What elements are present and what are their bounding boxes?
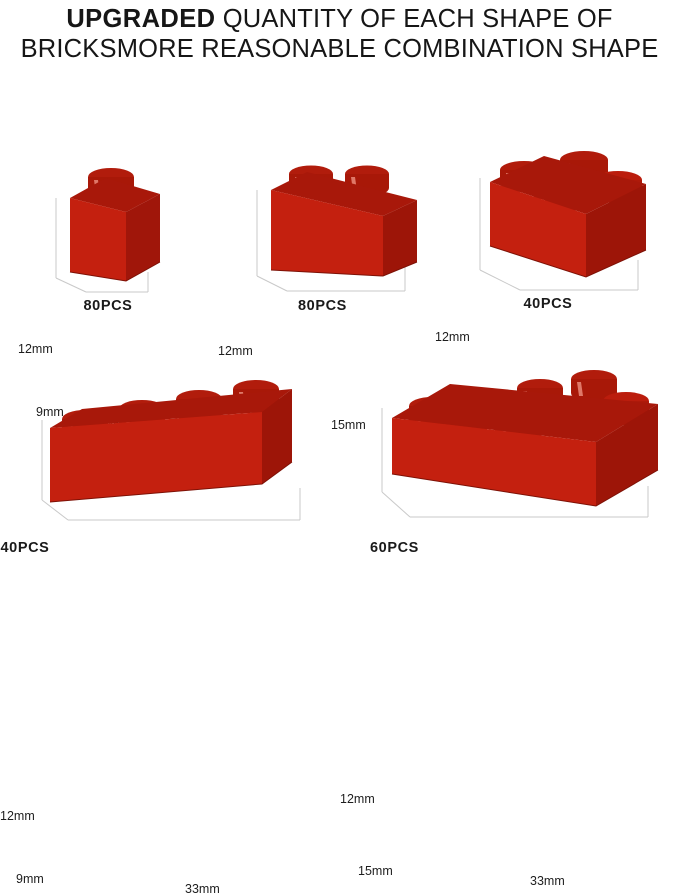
brick-2x4-body [392, 370, 658, 506]
title-line-2: BRICKSMORE REASONABLE COMBINATION SHAPE [21, 35, 659, 63]
depth-dimension-line [382, 492, 410, 517]
quantity-label-1x4: 40PCS [0, 540, 190, 556]
brick-item-2x2: 12mm 15mm 15mm 40PCS [428, 142, 668, 322]
height-dimension-label: 12mm [435, 330, 470, 344]
brick-2x2-illustration [428, 142, 668, 302]
depth-dimension-label: 9mm [16, 872, 44, 886]
depth-dimension-line [480, 270, 520, 290]
brick-item-1x4: 12mm 9mm 33mm 40PCS [0, 372, 330, 560]
height-dimension-label: 12mm [218, 344, 253, 358]
depth-dimension-line [257, 276, 287, 291]
page-title: UPGRADED QUANTITY OF EACH SHAPE OF BRICK… [0, 4, 679, 64]
brick-item-1x2: 12mm 9mm 15mm 80PCS [215, 150, 430, 322]
title-rest: QUANTITY OF EACH SHAPE OF [215, 5, 612, 33]
quantity-label-1x1: 80PCS [8, 298, 208, 314]
quantity-label-2x4: 60PCS [220, 540, 569, 556]
quantity-label-2x2: 40PCS [428, 296, 668, 312]
height-dimension-label: 12mm [0, 809, 35, 823]
brick-1x1-body [70, 168, 160, 281]
brick-1x4-illustration [0, 372, 330, 532]
depth-dimension-line [56, 278, 86, 292]
height-dimension-label: 12mm [18, 342, 53, 356]
brick-1x2-body [271, 166, 417, 277]
brick-2x2-body [490, 151, 646, 277]
width-dimension-label: 33mm [185, 882, 220, 896]
title-emphasis: UPGRADED [66, 5, 215, 33]
depth-dimension-label: 15mm [358, 864, 393, 878]
brick-item-1x1: 12mm 9mm 9mm 80PCS [8, 150, 208, 322]
depth-dimension-line [42, 500, 68, 520]
quantity-label-1x2: 80PCS [215, 298, 430, 314]
brick-1x2-illustration [215, 150, 430, 300]
brick-item-2x4: 12mm 15mm 33mm 60PCS [330, 362, 679, 560]
brick-2x4-illustration [330, 362, 679, 537]
brick-1x4-body [50, 380, 292, 502]
brick-1x1-illustration [8, 150, 208, 300]
height-dimension-label: 12mm [340, 792, 375, 806]
width-dimension-label: 33mm [530, 874, 565, 888]
